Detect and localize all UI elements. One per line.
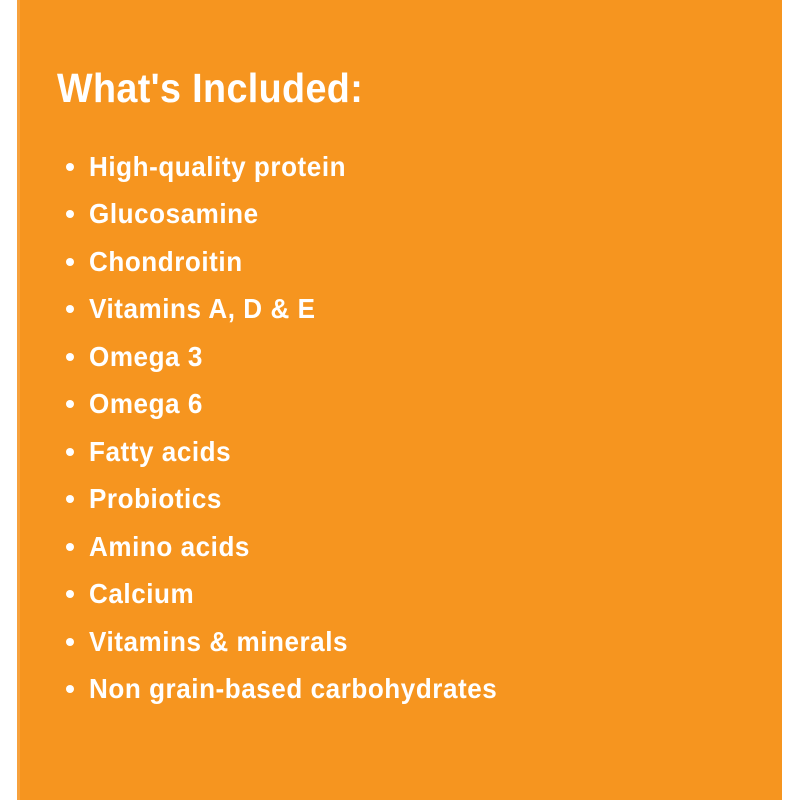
list-item-label: Probiotics [89, 484, 222, 514]
list-item-label: Amino acids [89, 532, 250, 562]
bullet-icon [66, 448, 74, 456]
list-item-label: Fatty acids [89, 437, 231, 467]
list-item: Chondroitin [51, 238, 751, 286]
list-item: Omega 3 [51, 333, 751, 381]
list-item-label: Non grain-based carbohydrates [89, 674, 497, 704]
page-title: What's Included: [57, 63, 363, 113]
bullet-icon [66, 495, 74, 503]
bullet-icon [66, 163, 74, 171]
list-item: Vitamins A, D & E [51, 286, 751, 334]
bullet-icon [66, 305, 74, 313]
list-item: Calcium [51, 571, 751, 619]
page-canvas: What's Included: High-quality protein Gl… [0, 0, 800, 800]
bullet-icon [66, 210, 74, 218]
bullet-icon [66, 543, 74, 551]
included-features-list: High-quality protein Glucosamine Chondro… [51, 143, 751, 713]
bullet-icon [66, 638, 74, 646]
list-item: Omega 6 [51, 381, 751, 429]
bullet-icon [66, 353, 74, 361]
list-item: Amino acids [51, 523, 751, 571]
list-item: Probiotics [51, 476, 751, 524]
list-item-label: High-quality protein [89, 152, 346, 182]
list-item-label: Glucosamine [89, 199, 259, 229]
list-item-label: Chondroitin [89, 247, 243, 277]
list-item: Glucosamine [51, 191, 751, 239]
list-item-label: Omega 6 [89, 389, 203, 419]
whats-included-panel: What's Included: High-quality protein Gl… [17, 0, 782, 800]
list-item: Non grain-based carbohydrates [51, 666, 751, 714]
list-item: Vitamins & minerals [51, 618, 751, 666]
list-item-label: Vitamins A, D & E [89, 294, 316, 324]
bullet-icon [66, 258, 74, 266]
bullet-icon [66, 685, 74, 693]
list-item-label: Calcium [89, 579, 194, 609]
list-item-label: Omega 3 [89, 342, 203, 372]
list-item-label: Vitamins & minerals [89, 627, 348, 657]
panel-content: What's Included: High-quality protein Gl… [17, 0, 782, 800]
list-item: Fatty acids [51, 428, 751, 476]
bullet-icon [66, 400, 74, 408]
bullet-icon [66, 590, 74, 598]
list-item: High-quality protein [51, 143, 751, 191]
